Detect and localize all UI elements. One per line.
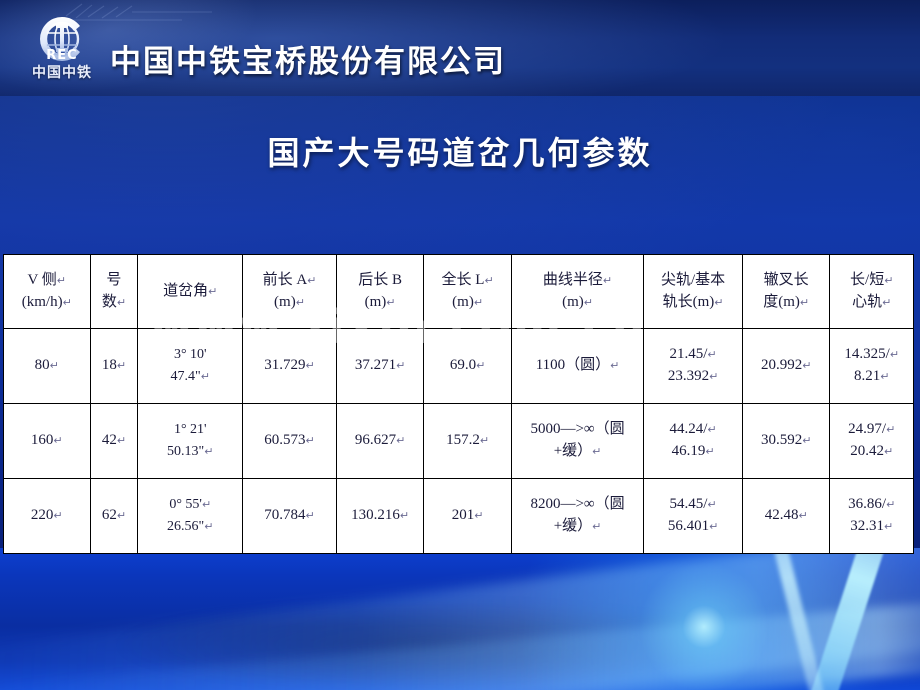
pilcrow-mark: ↵: [117, 509, 126, 522]
table-row: 220↵ 62↵ 0° 55'↵ 26.56"↵ 70.784↵ 130.216…: [4, 479, 914, 554]
pilcrow-mark: ↵: [705, 445, 714, 458]
cell-rear-length-value: 96.627: [355, 432, 396, 448]
pilcrow-mark: ↵: [474, 509, 483, 522]
pilcrow-mark: ↵: [709, 520, 718, 533]
cell-front-length-value: 70.784: [264, 507, 305, 523]
cell-point-rail-line2: 20.42: [850, 443, 884, 459]
column-header-front-length: 前长 A↵ (m)↵: [243, 255, 337, 329]
column-header-point-rail-line1: 长/短: [850, 272, 884, 288]
column-header-number-line1: 号: [106, 272, 121, 288]
pilcrow-mark: ↵: [484, 274, 493, 287]
cell-turnout-angle-line1: 0° 55': [169, 497, 202, 512]
pilcrow-mark: ↵: [707, 423, 716, 436]
pilcrow-mark: ↵: [474, 296, 483, 309]
pilcrow-mark: ↵: [57, 274, 66, 287]
cell-speed-value: 160: [31, 432, 54, 448]
cell-speed: 160↵: [4, 404, 91, 479]
cell-turnout-angle-line1: 3° 10': [139, 344, 241, 366]
column-header-turnout-angle-line1: 道岔角: [163, 283, 208, 299]
cell-point-rail-line1: 14.325/: [844, 346, 889, 362]
pilcrow-mark: ↵: [480, 434, 489, 447]
cell-front-length-value: 31.729: [264, 357, 305, 373]
cell-turnout-angle-line2: 50.13": [167, 444, 204, 459]
cell-frog-length-value: 20.992: [761, 357, 802, 373]
pilcrow-mark: ↵: [798, 509, 807, 522]
column-header-rear-length-line1: 后长 B: [358, 272, 402, 288]
column-header-speed-line1: V 侧: [27, 272, 56, 288]
pilcrow-mark: ↵: [386, 296, 395, 309]
column-header-switch-rail-line2: 轨长(m): [663, 294, 715, 310]
cell-rear-length-value: 130.216: [351, 507, 400, 523]
cell-switch-rail-line2: 23.392: [668, 368, 709, 384]
svg-text:REC: REC: [46, 48, 77, 63]
pilcrow-mark: ↵: [592, 520, 601, 533]
parameters-table-wrapper: V 侧↵ (km/h)↵ 号 数↵ 道岔角↵ 前长 A↵ (m)↵: [3, 254, 914, 554]
cell-number: 18↵: [90, 329, 138, 404]
cell-speed: 80↵: [4, 329, 91, 404]
cell-total-length-value: 157.2: [446, 432, 480, 448]
cell-total-length-value: 69.0: [450, 357, 476, 373]
cell-turnout-angle-line1: 1° 21': [139, 419, 241, 441]
column-header-total-length-line1: 全长 L: [442, 272, 485, 288]
table-row: 160↵ 42↵ 1° 21' 50.13"↵ 60.573↵ 96.627↵ …: [4, 404, 914, 479]
cell-turnout-angle: 0° 55'↵ 26.56"↵: [138, 479, 243, 554]
cell-frog-length: 30.592↵: [742, 404, 830, 479]
cell-total-length: 69.0↵: [424, 329, 512, 404]
cell-curve-radius-line1: 5000—>∞（圆: [513, 419, 642, 441]
cell-point-rail: 14.325/↵ 8.21↵: [830, 329, 914, 404]
cell-turnout-angle: 1° 21' 50.13"↵: [138, 404, 243, 479]
cell-point-rail-line1: 24.97/: [848, 421, 886, 437]
cell-frog-length-value: 42.48: [765, 507, 799, 523]
cell-curve-radius-line1: 8200—>∞（圆: [513, 494, 642, 516]
pilcrow-mark: ↵: [396, 359, 405, 372]
pilcrow-mark: ↵: [707, 498, 716, 511]
cell-number-value: 42: [102, 432, 117, 448]
table-header-row: V 侧↵ (km/h)↵ 号 数↵ 道岔角↵ 前长 A↵ (m)↵: [4, 255, 914, 329]
column-header-total-length: 全长 L↵ (m)↵: [424, 255, 512, 329]
cell-point-rail: 24.97/↵ 20.42↵: [830, 404, 914, 479]
cell-rear-length-value: 37.271: [355, 357, 396, 373]
column-header-speed-line2: (km/h): [22, 294, 63, 310]
pilcrow-mark: ↵: [306, 509, 315, 522]
column-header-number-line2: 数: [102, 294, 117, 310]
company-logo: REC 中国中铁: [12, 14, 112, 86]
pilcrow-mark: ↵: [709, 370, 718, 383]
table-header: V 侧↵ (km/h)↵ 号 数↵ 道岔角↵ 前长 A↵ (m)↵: [4, 255, 914, 329]
cell-switch-rail: 44.24/↵ 46.19↵: [644, 404, 743, 479]
pilcrow-mark: ↵: [117, 296, 126, 309]
presentation-slide: REC 中国中铁 中国中铁宝桥股份有限公司 国产大号码道岔几何参数 www.zi…: [0, 0, 920, 690]
pilcrow-mark: ↵: [53, 509, 62, 522]
cell-turnout-angle-line2: 26.56": [167, 519, 204, 534]
column-header-switch-rail-line1: 尖轨/基本: [661, 272, 725, 288]
pilcrow-mark: ↵: [592, 445, 601, 458]
pilcrow-mark: ↵: [584, 296, 593, 309]
cell-speed-value: 80: [35, 357, 50, 373]
turnout-geometry-parameters-table: V 侧↵ (km/h)↵ 号 数↵ 道岔角↵ 前长 A↵ (m)↵: [3, 254, 914, 554]
pilcrow-mark: ↵: [296, 296, 305, 309]
cell-number-value: 18: [102, 357, 117, 373]
pilcrow-mark: ↵: [117, 359, 126, 372]
pilcrow-mark: ↵: [117, 434, 126, 447]
cell-curve-radius: 5000—>∞（圆 +缓）↵: [511, 404, 643, 479]
pilcrow-mark: ↵: [884, 274, 893, 287]
pilcrow-mark: ↵: [603, 274, 612, 287]
pilcrow-mark: ↵: [880, 370, 889, 383]
column-header-frog-length-line2: 度(m): [763, 294, 800, 310]
cell-switch-rail: 21.45/↵ 23.392↵: [644, 329, 743, 404]
pilcrow-mark: ↵: [802, 434, 811, 447]
cell-rear-length: 96.627↵: [336, 404, 424, 479]
cell-point-rail-line2: 8.21: [854, 368, 880, 384]
column-header-front-length-line1: 前长 A: [263, 272, 308, 288]
cell-switch-rail-line2: 46.19: [672, 443, 706, 459]
logo-wordmark: 中国中铁: [16, 62, 108, 82]
pilcrow-mark: ↵: [306, 359, 315, 372]
column-header-speed: V 侧↵ (km/h)↵: [4, 255, 91, 329]
cell-speed-value: 220: [31, 507, 54, 523]
pilcrow-mark: ↵: [800, 296, 809, 309]
cell-front-length: 31.729↵: [243, 329, 337, 404]
cell-number-value: 62: [102, 507, 117, 523]
pilcrow-mark: ↵: [202, 498, 211, 511]
cell-rear-length: 130.216↵: [336, 479, 424, 554]
column-header-frog-length: 辙叉长 度(m)↵: [742, 255, 830, 329]
cell-front-length: 60.573↵: [243, 404, 337, 479]
column-header-curve-radius: 曲线半径↵ (m)↵: [511, 255, 643, 329]
pilcrow-mark: ↵: [201, 370, 210, 383]
pilcrow-mark: ↵: [306, 434, 315, 447]
pilcrow-mark: ↵: [890, 348, 899, 361]
slide-footer-graphic: [0, 548, 920, 690]
china-railway-logo-icon: REC: [18, 14, 106, 64]
cell-total-length-value: 201: [452, 507, 475, 523]
pilcrow-mark: ↵: [882, 296, 891, 309]
pilcrow-mark: ↵: [886, 498, 895, 511]
pilcrow-mark: ↵: [208, 285, 217, 298]
column-header-frog-length-line1: 辙叉长: [764, 272, 809, 288]
cell-point-rail-line1: 36.86/: [848, 496, 886, 512]
cell-switch-rail-line1: 21.45/: [669, 346, 707, 362]
column-header-total-length-line2: (m): [452, 294, 474, 310]
cell-switch-rail-line1: 44.24/: [669, 421, 707, 437]
cell-total-length: 157.2↵: [424, 404, 512, 479]
cell-curve-radius-line2: +缓）: [554, 443, 592, 459]
pilcrow-mark: ↵: [886, 423, 895, 436]
cell-frog-length: 20.992↵: [742, 329, 830, 404]
column-header-rear-length-line2: (m): [365, 294, 387, 310]
column-header-turnout-angle: 道岔角↵: [138, 255, 243, 329]
cell-front-length: 70.784↵: [243, 479, 337, 554]
cell-curve-radius-line1: 1100（圆）: [536, 357, 610, 373]
cell-point-rail: 36.86/↵ 32.31↵: [830, 479, 914, 554]
page-title: 国产大号码道岔几何参数: [0, 128, 920, 174]
pilcrow-mark: ↵: [610, 359, 619, 372]
company-name: 中国中铁宝桥股份有限公司: [110, 36, 506, 81]
column-header-switch-rail: 尖轨/基本 轨长(m)↵: [644, 255, 743, 329]
cell-curve-radius: 1100（圆）↵: [511, 329, 643, 404]
cell-rear-length: 37.271↵: [336, 329, 424, 404]
cell-switch-rail: 54.45/↵ 56.401↵: [644, 479, 743, 554]
cell-number: 62↵: [90, 479, 138, 554]
cell-turnout-angle-line2: 47.4": [171, 369, 201, 384]
cell-number: 42↵: [90, 404, 138, 479]
pilcrow-mark: ↵: [204, 520, 213, 533]
table-body: 80↵ 18↵ 3° 10' 47.4"↵ 31.729↵ 37.271↵ 69…: [4, 329, 914, 554]
pilcrow-mark: ↵: [802, 359, 811, 372]
pilcrow-mark: ↵: [476, 359, 485, 372]
pilcrow-mark: ↵: [53, 434, 62, 447]
column-header-curve-radius-line1: 曲线半径: [543, 272, 603, 288]
column-header-point-rail: 长/短↵ 心轨↵: [830, 255, 914, 329]
cell-frog-length-value: 30.592: [761, 432, 802, 448]
cell-curve-radius: 8200—>∞（圆 +缓）↵: [511, 479, 643, 554]
cell-speed: 220↵: [4, 479, 91, 554]
cell-curve-radius-line2: +缓）: [554, 518, 592, 534]
cell-total-length: 201↵: [424, 479, 512, 554]
column-header-point-rail-line2: 心轨: [852, 294, 882, 310]
pilcrow-mark: ↵: [714, 296, 723, 309]
column-header-curve-radius-line2: (m): [562, 294, 584, 310]
cell-point-rail-line2: 32.31: [850, 518, 884, 534]
pilcrow-mark: ↵: [204, 445, 213, 458]
cell-frog-length: 42.48↵: [742, 479, 830, 554]
column-header-front-length-line2: (m): [274, 294, 296, 310]
pilcrow-mark: ↵: [707, 348, 716, 361]
cell-turnout-angle: 3° 10' 47.4"↵: [138, 329, 243, 404]
pilcrow-mark: ↵: [396, 434, 405, 447]
pilcrow-mark: ↵: [307, 274, 316, 287]
pilcrow-mark: ↵: [63, 296, 72, 309]
column-header-rear-length: 后长 B (m)↵: [336, 255, 424, 329]
cell-switch-rail-line2: 56.401: [668, 518, 709, 534]
pilcrow-mark: ↵: [884, 445, 893, 458]
cell-switch-rail-line1: 54.45/: [669, 496, 707, 512]
slide-header-band: REC 中国中铁 中国中铁宝桥股份有限公司: [0, 0, 920, 96]
pilcrow-mark: ↵: [50, 359, 59, 372]
cell-front-length-value: 60.573: [264, 432, 305, 448]
pilcrow-mark: ↵: [884, 520, 893, 533]
pilcrow-mark: ↵: [400, 509, 409, 522]
column-header-number: 号 数↵: [90, 255, 138, 329]
table-row: 80↵ 18↵ 3° 10' 47.4"↵ 31.729↵ 37.271↵ 69…: [4, 329, 914, 404]
